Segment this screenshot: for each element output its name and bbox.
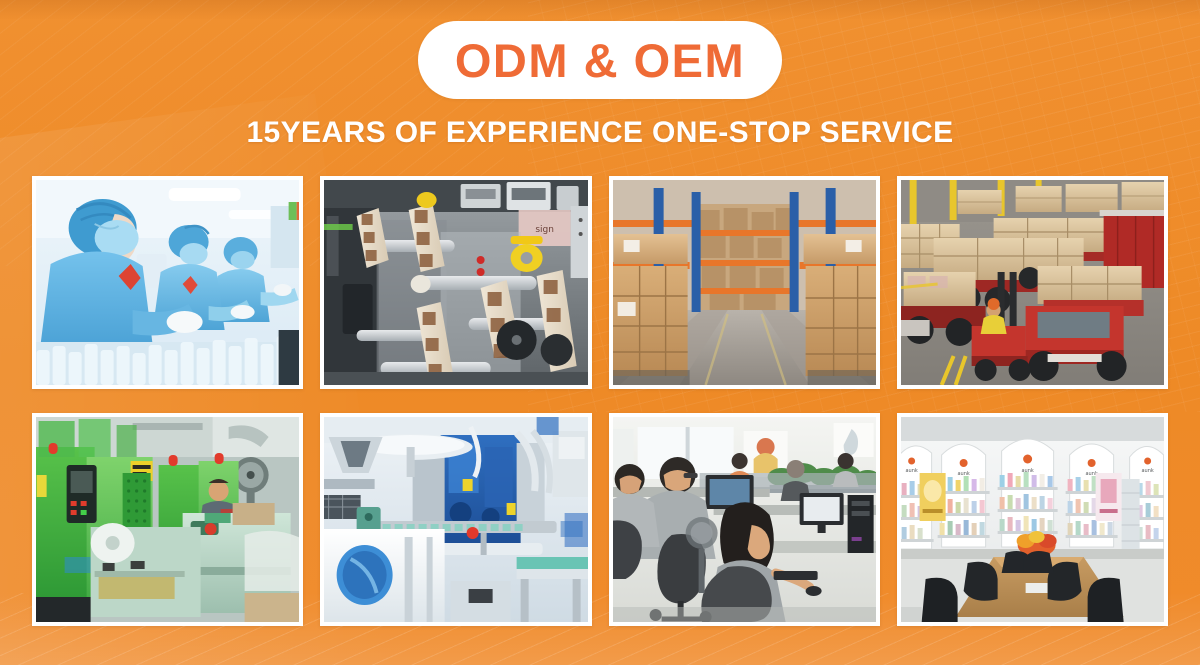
photo-image (613, 417, 876, 622)
photo-shipping-loading-dock (897, 176, 1168, 389)
banner-header: ODM & OEM 15YEARS OF EXPERIENCE ONE-STOP… (0, 0, 1200, 172)
photo-image (36, 417, 299, 622)
photo-office-workstations (609, 413, 880, 626)
svg-text:aunk: aunk (1141, 468, 1153, 474)
title-pill: ODM & OEM (418, 21, 782, 99)
svg-text:aunk: aunk (905, 468, 917, 474)
svg-text:sign: sign (536, 225, 555, 235)
photo-image: sign (324, 180, 587, 385)
photo-automated-packaging-line (320, 413, 591, 626)
photo-grid: sign (32, 176, 1168, 626)
photo-label-printing-press: sign (320, 176, 591, 389)
banner-title: ODM & OEM (455, 37, 745, 84)
photo-product-showroom-meeting-room: aunkaunkaunk aunkaunk (897, 413, 1168, 626)
photo-injection-molding-machines (32, 413, 303, 626)
photo-cleanroom-assembly-line (32, 176, 303, 389)
photo-warehouse-storage-aisle (609, 176, 880, 389)
odm-oem-banner: ODM & OEM 15YEARS OF EXPERIENCE ONE-STOP… (0, 0, 1200, 665)
photo-image (613, 180, 876, 385)
photo-image (901, 180, 1164, 385)
banner-subtitle: 15YEARS OF EXPERIENCE ONE-STOP SERVICE (0, 116, 1200, 150)
photo-image: aunkaunkaunk aunkaunk (901, 417, 1164, 622)
photo-image (324, 417, 587, 622)
photo-image (36, 180, 299, 385)
